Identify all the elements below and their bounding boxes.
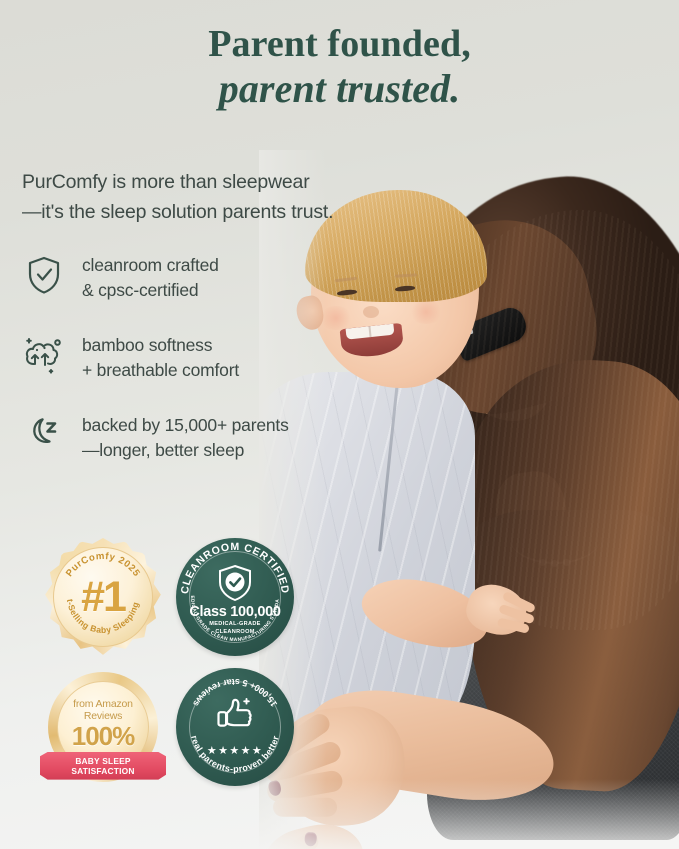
page-title: Parent founded, parent trusted. <box>0 22 679 113</box>
badge-row-bottom: from Amazon Reviews 100% BABY SLEEP SATI… <box>44 668 304 786</box>
feature-text: bamboo softness + breathable comfort <box>82 332 239 384</box>
feature-text: backed by 15,000+ parents —longer, bette… <box>82 412 289 464</box>
badge-row-top: PurComfy 2025 Best-Selling Baby Sleeping… <box>44 538 304 656</box>
moon-sleep-icon <box>22 412 66 458</box>
headline-line-1: Parent founded, <box>208 23 471 65</box>
badge-ribbon: BABY SLEEP SATISFACTION <box>40 752 166 782</box>
feature-item-sleep: backed by 15,000+ parents —longer, bette… <box>22 412 382 464</box>
shield-check-icon <box>217 564 253 602</box>
badge-stars: ★★★★★ <box>176 744 294 757</box>
best-selling-badge: PurComfy 2025 Best-Selling Baby Sleeping… <box>44 538 162 656</box>
feature-line-1: cleanroom crafted <box>82 255 219 275</box>
feature-line-2: —longer, better sleep <box>82 440 244 460</box>
feature-list: cleanroom crafted & cpsc-certified bambo… <box>22 252 382 491</box>
badge-percent-value: 100% <box>44 721 162 752</box>
feature-line-2: + breathable comfort <box>82 360 239 380</box>
feature-line-1: backed by 15,000+ parents <box>82 415 289 435</box>
bamboo-cloud-breathable-icon <box>22 332 66 378</box>
badge-class-sub-1: MEDICAL-GRADE <box>209 621 260 627</box>
parents-proven-badge: 15,000+ 5 star reviews real parents-prov… <box>176 668 294 786</box>
feature-line-1: bamboo softness <box>82 335 212 355</box>
trust-badges: PurComfy 2025 Best-Selling Baby Sleeping… <box>44 538 304 798</box>
badge-class-sub: MEDICAL-GRADE CLEANROOM <box>176 621 294 636</box>
badge-source-line-1: from Amazon <box>44 698 162 710</box>
feature-line-2: & cpsc-certified <box>82 280 198 300</box>
feature-text: cleanroom crafted & cpsc-certified <box>82 252 219 304</box>
badge-class-value: Class 100,000 <box>176 604 294 620</box>
badge-rank-number: #1 <box>44 538 162 656</box>
ribbon-line-2: SATISFACTION <box>71 767 134 777</box>
feature-item-cleanroom: cleanroom crafted & cpsc-certified <box>22 252 382 304</box>
baby-cheek-right <box>409 300 443 324</box>
feature-item-bamboo: bamboo softness + breathable comfort <box>22 332 382 384</box>
cleanroom-certified-badge: CLEANROOM CERTIFIED MEDICAL-GRADE CLEAN … <box>176 538 294 656</box>
subheadline: PurComfy is more than sleepwear —it's th… <box>22 168 422 227</box>
shield-check-icon <box>22 252 66 298</box>
amazon-satisfaction-badge: from Amazon Reviews 100% BABY SLEEP SATI… <box>44 668 162 786</box>
thumbs-up-icon <box>214 696 256 736</box>
badge-class-sub-2: CLEANROOM <box>215 629 254 635</box>
headline-line-2: parent trusted. <box>0 66 679 113</box>
